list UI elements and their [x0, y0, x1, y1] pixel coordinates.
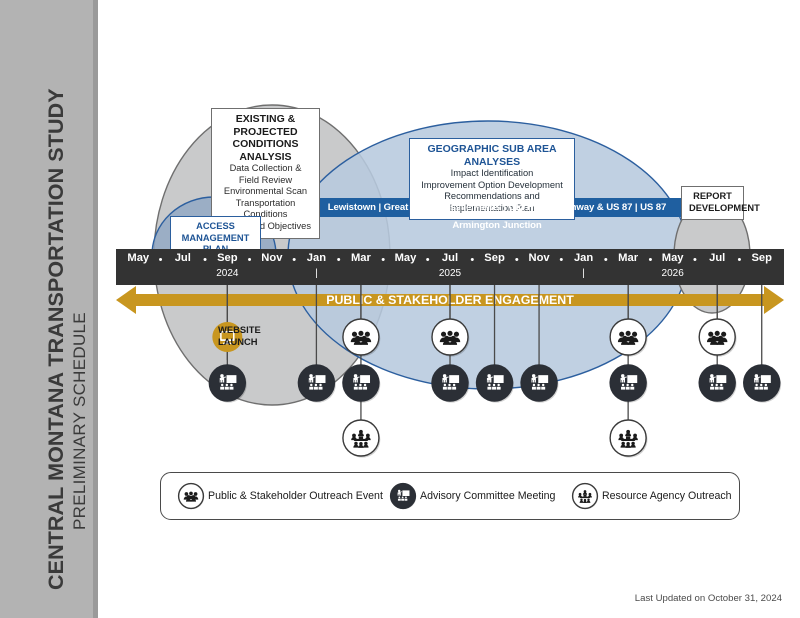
- legend-label-0: Public & Stakeholder Outreach Event: [208, 490, 383, 502]
- website-launch-line1: WEBSITE: [218, 324, 278, 336]
- legend-item-2[interactable]: Resource Agency Outreach: [571, 483, 732, 509]
- marker-advisory-committee-5[interactable]: [521, 365, 558, 403]
- marker-advisory-committee-8[interactable]: [744, 365, 781, 403]
- last-updated-note: Last Updated on October 31, 2024: [635, 593, 782, 604]
- legend-item-1[interactable]: Advisory Committee Meeting: [389, 483, 555, 509]
- marker-advisory-committee-7[interactable]: [699, 365, 736, 403]
- legend-item-0[interactable]: Public & Stakeholder Outreach Event: [177, 483, 383, 509]
- milestone-markers-layer: [0, 0, 800, 618]
- marker-resource-agency-1[interactable]: [610, 420, 647, 458]
- marker-advisory-committee-6[interactable]: [610, 365, 647, 403]
- marker-advisory-committee-0[interactable]: [209, 365, 246, 403]
- marker-advisory-committee-1[interactable]: [298, 365, 335, 403]
- legend-label-2: Resource Agency Outreach: [602, 490, 732, 502]
- marker-advisory-committee-3[interactable]: [432, 365, 469, 403]
- legend-label-1: Advisory Committee Meeting: [420, 490, 555, 502]
- marker-advisory-committee-4[interactable]: [477, 365, 514, 403]
- marker-public-outreach-1[interactable]: [432, 319, 469, 357]
- marker-public-outreach-0[interactable]: [343, 319, 380, 357]
- marker-advisory-committee-2[interactable]: [343, 365, 380, 403]
- marker-public-outreach-2[interactable]: [610, 319, 647, 357]
- website-launch-label: WEBSITE LAUNCH: [218, 324, 278, 348]
- legend: Public & Stakeholder Outreach EventAdvis…: [160, 472, 740, 520]
- website-launch-line2: LAUNCH: [218, 336, 278, 348]
- marker-resource-agency-0[interactable]: [343, 420, 380, 458]
- round-table-icon: [571, 482, 599, 510]
- marker-public-outreach-3[interactable]: [699, 319, 736, 357]
- presenter-board-icon: [389, 482, 417, 510]
- people-group-icon: [177, 482, 205, 510]
